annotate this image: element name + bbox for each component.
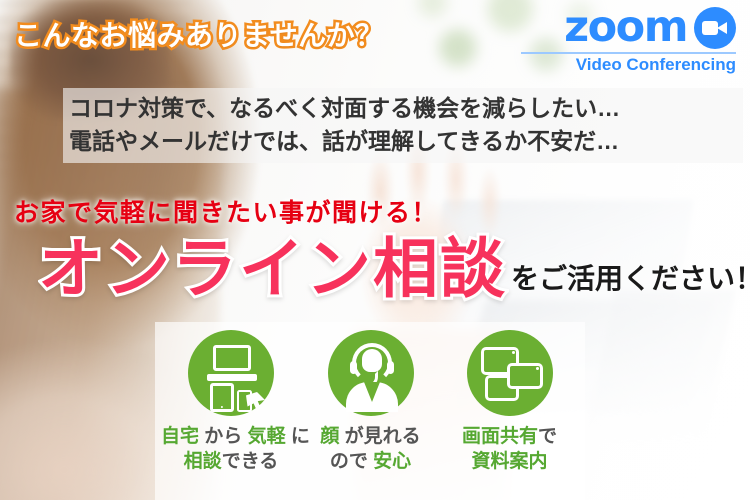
label-plain: できる xyxy=(222,451,279,472)
tablet-shape xyxy=(210,383,234,412)
headset-earcup-right xyxy=(387,361,394,374)
video-camera-icon xyxy=(694,7,736,49)
label-emphasis: 気軽 xyxy=(248,426,286,447)
operator-head-shape xyxy=(362,349,382,372)
label-emphasis: 相談 xyxy=(184,451,222,472)
zoom-logo-row: zoom xyxy=(521,6,736,49)
label-plain: が見れる xyxy=(339,426,420,447)
zoom-logo-divider xyxy=(521,52,736,54)
feature-label-line: 相談できる xyxy=(161,449,301,474)
zoom-wordmark: zoom xyxy=(564,6,687,49)
label-plain: で xyxy=(538,426,557,447)
headset-operator-icon xyxy=(328,330,414,416)
feature-item-face-to-face: 顔 が見れるので 安心 xyxy=(301,330,440,474)
share-window-1-dot xyxy=(512,351,515,354)
feature-label-line: 画面共有で xyxy=(440,424,579,449)
label-emphasis: 資料案内 xyxy=(471,451,547,472)
feature-item-home-consult: 自宅 から 気軽 に相談できる xyxy=(161,330,301,474)
zoom-logo-subtitle: Video Conferencing xyxy=(521,56,736,75)
feature-label-line: 自宅 から 気軽 に xyxy=(161,424,301,449)
zoom-logo: zoom Video Conferencing xyxy=(521,6,736,75)
feature-label-0: 自宅 から 気軽 に相談できる xyxy=(161,424,301,474)
laptop-screen-shape xyxy=(213,345,251,371)
feature-label-1: 顔 が見れるので 安心 xyxy=(301,424,440,474)
label-emphasis: 自宅 xyxy=(161,426,199,447)
feature-label-line: ので 安心 xyxy=(301,449,440,474)
share-window-2-dot xyxy=(536,367,539,370)
feature-panel: 自宅 から 気軽 に相談できる 顔 が見れるので 安心 xyxy=(155,322,585,500)
laptop-tablet-phone-icon xyxy=(188,330,274,416)
lead-text: お家で気軽に聞きたい事が聞ける！ xyxy=(14,193,438,229)
headset-earcup-left xyxy=(350,361,357,374)
label-plain: ので xyxy=(330,451,373,472)
promo-banner: こんなお悩みありませんか？ zoom Video Conferencing コロ… xyxy=(0,0,750,500)
screen-share-icon xyxy=(467,330,553,416)
camera-lens xyxy=(717,22,727,34)
feature-item-screen-share: 画面共有で資料案内 xyxy=(440,330,579,474)
label-emphasis: 安心 xyxy=(373,451,411,472)
feature-label-line: 資料案内 xyxy=(440,449,579,474)
label-plain: から xyxy=(199,426,248,447)
operator-collar-shape xyxy=(364,382,380,402)
main-headline: オンライン相談 をご活用ください！ xyxy=(38,237,750,302)
problem-line-2: 電話やメールだけでは、話が理解してきるか不安だ… xyxy=(69,125,737,158)
problem-text-block: コロナ対策で、なるべく対面する機会を減らしたい… 電話やメールだけでは、話が理解… xyxy=(63,88,743,163)
label-emphasis: 顔 xyxy=(320,426,339,447)
problem-line-1: コロナ対策で、なるべく対面する機会を減らしたい… xyxy=(69,92,737,125)
feature-label-2: 画面共有で資料案内 xyxy=(440,424,579,474)
main-headline-tail: をご活用ください！ xyxy=(511,257,750,302)
camera-body xyxy=(702,21,718,35)
laptop-base-shape xyxy=(207,374,257,381)
label-emphasis: 画面共有 xyxy=(462,426,538,447)
problem-banner-title: こんなお悩みありませんか？ xyxy=(14,14,384,54)
feature-label-line: 顔 が見れる xyxy=(301,424,440,449)
main-headline-keyword: オンライン相談 xyxy=(38,237,507,302)
